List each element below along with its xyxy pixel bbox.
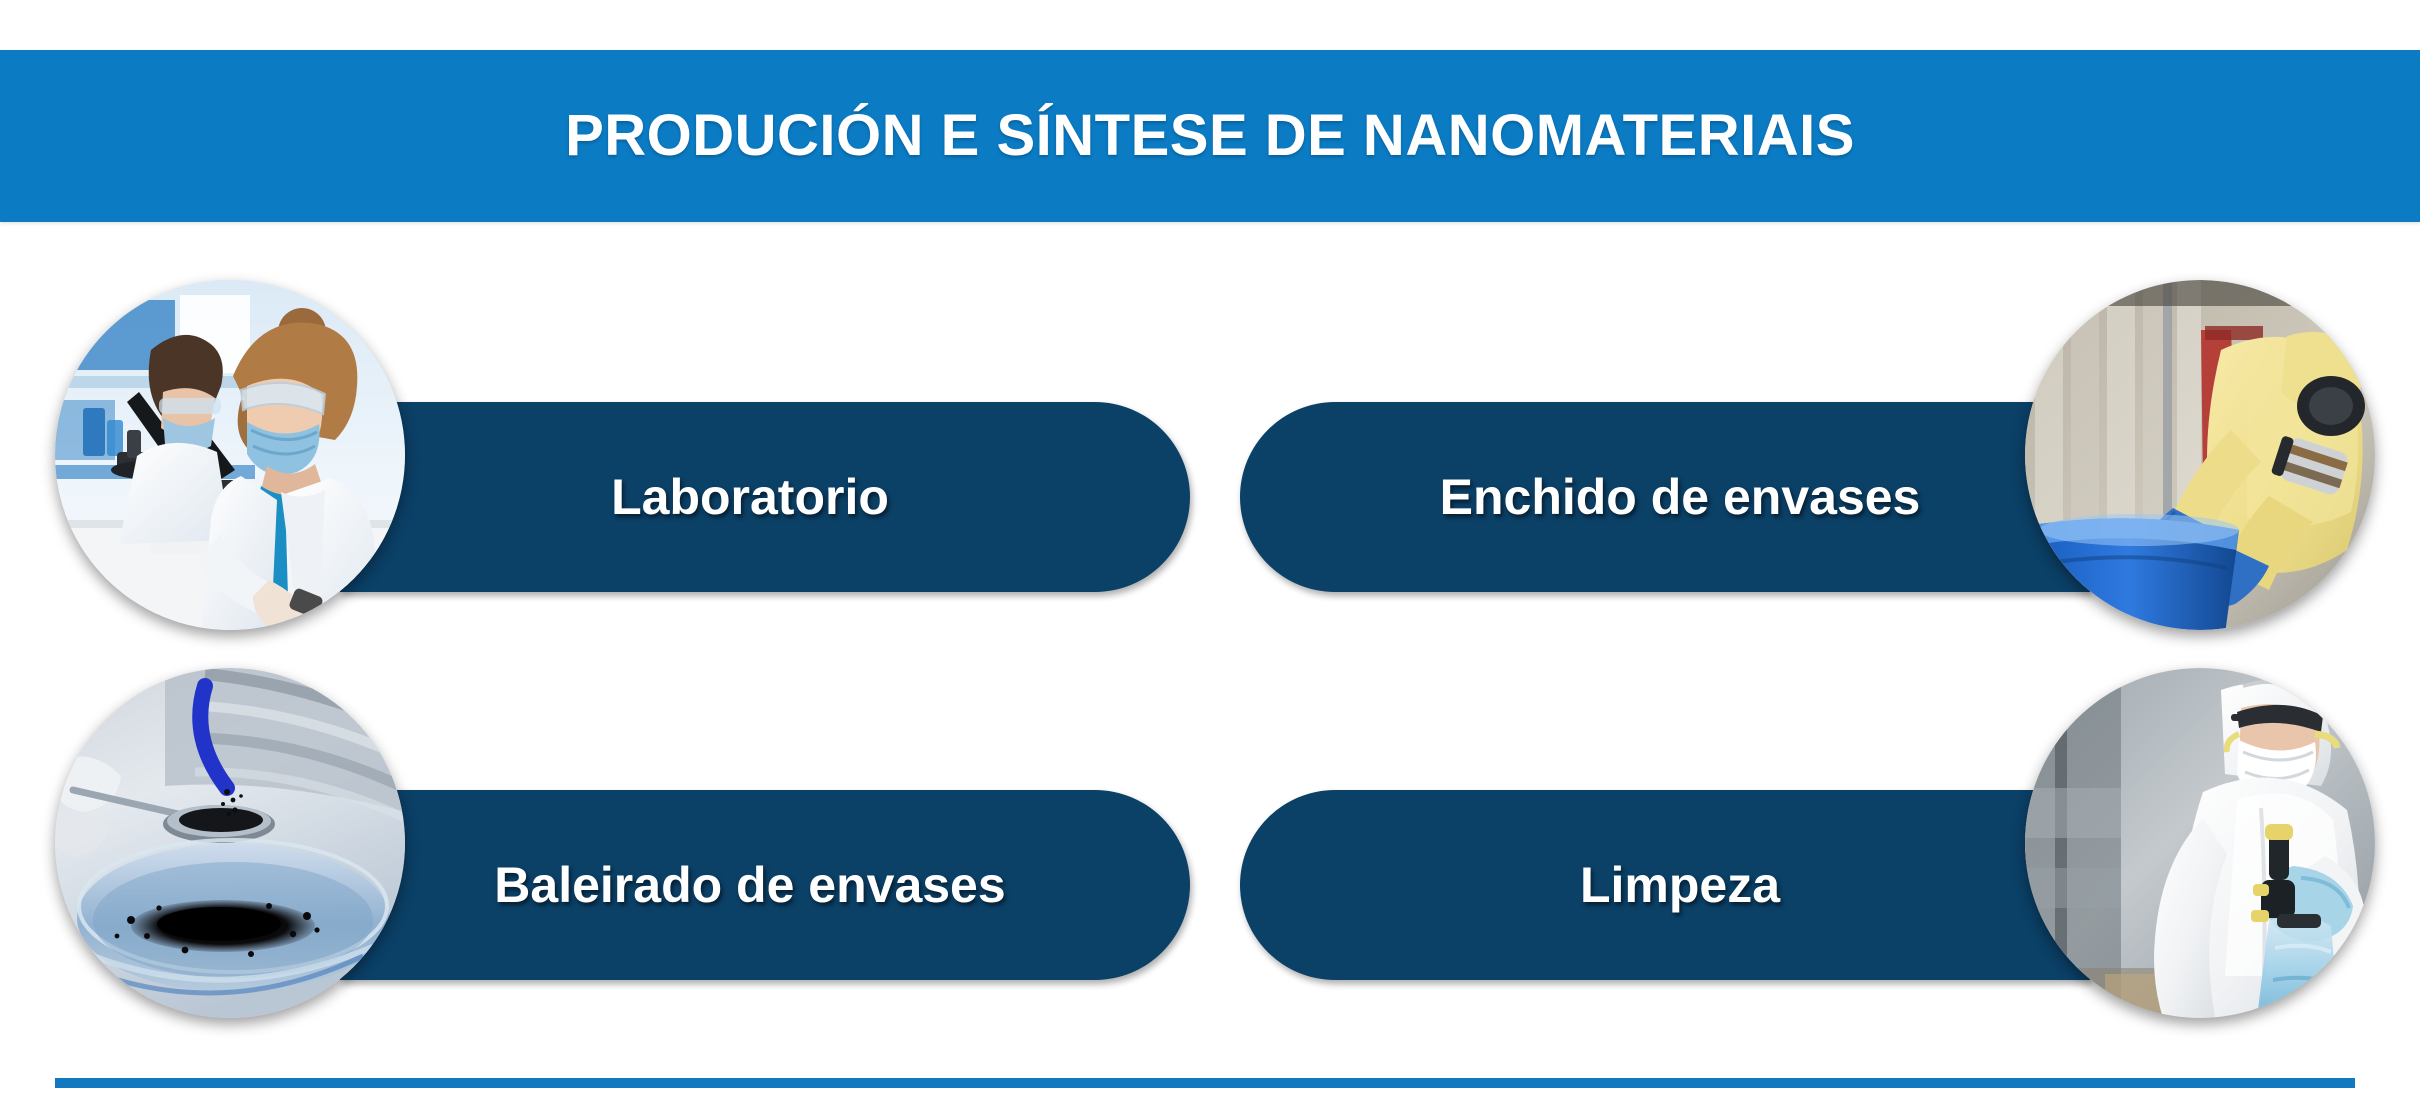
pill-label-laboratorio: Laboratorio [611,468,889,526]
pill-limpeza[interactable]: Limpeza [1240,790,2090,980]
pill-label-enchido-de-envases: Enchido de envases [1440,468,1921,526]
header-banner: PRODUCIÓN E SÍNTESE DE NANOMATERIAIS [0,50,2420,222]
cleaning-spray-photo [2025,668,2375,1018]
pill-enchido-de-envases[interactable]: Enchido de envases [1240,402,2090,592]
drum-filling-hazmat-photo [2025,280,2375,630]
slide-canvas: PRODUCIÓN E SÍNTESE DE NANOMATERIAIS Lab… [0,0,2420,1096]
pill-label-limpeza: Limpeza [1580,856,1780,914]
card-laboratorio[interactable]: Laboratorio [20,272,1200,662]
pill-laboratorio[interactable]: Laboratorio [340,402,1190,592]
pill-baleirado-de-envases[interactable]: Baleirado de envases [340,790,1190,980]
lab-microscope-photo [55,280,405,630]
card-baleirado-de-envases[interactable]: Baleirado de envases [20,660,1200,1050]
card-limpeza[interactable]: Limpeza [1230,660,2410,1050]
cards-grid: Laboratorio [0,222,2420,1032]
powder-pouring-photo [55,668,405,1018]
footer-accent-rule [55,1078,2355,1088]
card-enchido-de-envases[interactable]: Enchido de envases [1230,272,2410,662]
page-title: PRODUCIÓN E SÍNTESE DE NANOMATERIAIS [565,106,1855,167]
pill-label-baleirado-de-envases: Baleirado de envases [494,856,1005,914]
